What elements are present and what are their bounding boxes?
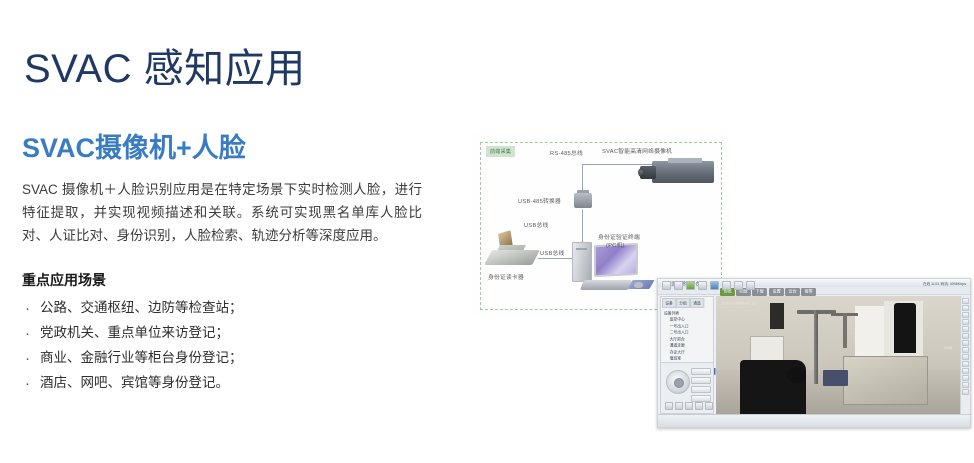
- pc-keyboard: [580, 280, 632, 290]
- channel-button[interactable]: [962, 382, 969, 388]
- ptz-action-icons[interactable]: [665, 402, 713, 410]
- capture-icon[interactable]: [710, 281, 719, 290]
- snapshot-icon[interactable]: [665, 402, 673, 410]
- volume-icon[interactable]: [722, 281, 731, 290]
- channel-button[interactable]: [962, 333, 969, 339]
- pc-tower-drive-slot: [576, 248, 587, 250]
- node-label-camera: SVAC智能高清网络摄像机: [602, 148, 672, 156]
- channel-button[interactable]: [962, 354, 969, 360]
- app-status-text: 在线 11/11 码流: 4096Kbps: [923, 282, 966, 287]
- ptz-preset-buttons[interactable]: [691, 368, 711, 402]
- video-pole: [814, 310, 819, 384]
- play-icon[interactable]: [686, 281, 695, 290]
- video-window-right: [855, 306, 884, 363]
- section-subtitle: SVAC摄像机+人脸: [22, 133, 452, 164]
- channel-button[interactable]: [962, 368, 969, 374]
- video-counter: [843, 356, 928, 406]
- ptz-direction-dial[interactable]: [666, 370, 690, 394]
- camera-device: [638, 158, 716, 188]
- ptz-preset-button[interactable]: [691, 395, 711, 402]
- node-label-card-reader: 身份证读卡器: [488, 274, 524, 282]
- ptz-control-panel[interactable]: [660, 362, 714, 414]
- link-label-usb-converter: USB总线: [524, 222, 549, 230]
- software-screenshot: 视频监控管理平台 预览 回放 下载 设置 云台 报警 设备 分组 通道 设备列表…: [657, 278, 971, 428]
- node-label-converter: USB-485转换器: [518, 198, 561, 206]
- usb-485-converter-device: [574, 190, 594, 212]
- channel-button[interactable]: [962, 312, 969, 318]
- sidebar-tab-channels[interactable]: 通道: [690, 298, 704, 308]
- channel-button[interactable]: [962, 389, 969, 395]
- channel-strip[interactable]: [960, 296, 970, 415]
- camera-body: [652, 161, 714, 183]
- list-item: 酒店、网吧、宾馆等身份登记。: [22, 371, 452, 396]
- converter-body: [574, 193, 592, 208]
- channel-button[interactable]: [962, 319, 969, 325]
- list-item: 商业、金融行业等柜台身份登记；: [22, 346, 452, 371]
- help-icon[interactable]: [746, 281, 755, 290]
- settings-icon[interactable]: [705, 402, 713, 410]
- record-icon[interactable]: [675, 402, 683, 410]
- audio-icon[interactable]: [685, 402, 693, 410]
- video-person-standing: [894, 303, 916, 353]
- ptz-zoom-button[interactable]: [691, 368, 711, 375]
- tab-alarm[interactable]: 报警: [801, 288, 816, 296]
- wire-camera-to-converter-vertical: [582, 164, 583, 192]
- fullscreen-icon[interactable]: [695, 402, 703, 410]
- app-statusbar-icons[interactable]: [662, 281, 755, 290]
- camera-lens-icon: [638, 168, 645, 177]
- body-paragraph: SVAC 摄像机＋人脸识别应用是在特定场景下实时检测人脸，进行特征提取，并实现视…: [22, 178, 422, 248]
- layout-2x2-icon[interactable]: [674, 281, 683, 290]
- pc-tower: [572, 242, 592, 282]
- layout-1x1-icon[interactable]: [662, 281, 671, 290]
- channel-button[interactable]: [962, 298, 969, 304]
- sidebar-tabs[interactable]: 设备 分组 通道: [661, 297, 713, 308]
- id-card-reader-device: [486, 232, 544, 272]
- node-label-terminal-line1: 身份证验证终端: [598, 234, 640, 242]
- channel-button[interactable]: [962, 347, 969, 353]
- sidebar-tab-devices[interactable]: 设备: [662, 298, 676, 308]
- channel-button[interactable]: [962, 305, 969, 311]
- ptz-focus-button[interactable]: [691, 377, 711, 384]
- channel-button[interactable]: [962, 361, 969, 367]
- channel-button[interactable]: [962, 375, 969, 381]
- channel-button[interactable]: [962, 326, 969, 332]
- scenarios-list: 公路、交通枢纽、边防等检查站； 党政机关、重点单位来访登记； 商业、金融行业等柜…: [22, 296, 452, 396]
- list-item: 党政机关、重点单位来访登记；: [22, 321, 452, 346]
- video-person-head: [787, 367, 807, 382]
- video-pole2: [843, 313, 847, 349]
- page-title: SVAC 感知应用: [24, 36, 306, 94]
- tab-settings[interactable]: 设置: [769, 288, 784, 296]
- stop-icon[interactable]: [698, 281, 707, 290]
- fullscreen-icon[interactable]: [734, 281, 743, 290]
- list-item: 公路、交通枢纽、边防等检查站；: [22, 296, 452, 321]
- scenarios-heading: 重点应用场景: [22, 270, 452, 290]
- app-statusbar: [658, 414, 970, 427]
- tab-ptz[interactable]: 云台: [785, 288, 800, 296]
- diagram-zone-label: 前端采集: [486, 146, 515, 157]
- left-content-column: SVAC摄像机+人脸 SVAC 摄像机＋人脸识别应用是在特定场景下实时检测人脸，…: [22, 133, 452, 396]
- video-feed[interactable]: 2016-03-18 09:42:15 CH01: [716, 296, 960, 415]
- video-osd-channel: CH01: [944, 346, 953, 350]
- link-label-rs485: RS-485总线: [550, 150, 583, 158]
- video-osd-timestamp: 2016-03-18 09:42:15: [721, 301, 756, 305]
- ptz-iris-button[interactable]: [691, 386, 711, 393]
- channel-button[interactable]: [962, 340, 969, 346]
- card-reader-base: [484, 250, 540, 265]
- sidebar-tab-groups[interactable]: 分组: [676, 298, 690, 308]
- node-label-terminal-line2: (PC机): [606, 242, 625, 250]
- camera-top-plate: [668, 158, 702, 163]
- pc-mouse: [634, 282, 643, 288]
- video-object-box: [823, 370, 847, 387]
- ptz-center-button[interactable]: [674, 378, 684, 388]
- video-ceiling-beam: [770, 303, 785, 329]
